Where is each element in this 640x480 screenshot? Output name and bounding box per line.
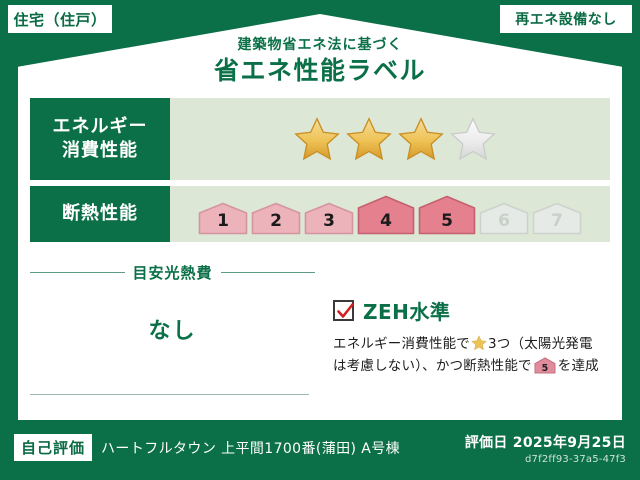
insulation-level-6: 6 (479, 193, 529, 235)
insulation-level-7: 7 (532, 193, 582, 235)
evaluation-code: d7f2ff93-37a5-47f3 (465, 454, 626, 465)
utility-cost-divider (30, 394, 309, 395)
energy-performance-row: エネルギー 消費性能 (30, 98, 610, 180)
energy-label-line1: エネルギー (53, 115, 148, 139)
star-filled-icon (294, 116, 340, 162)
utility-cost-heading: 目安光熱費 (30, 262, 315, 283)
zeh-column: ZEH水準 エネルギー消費性能で 3つ（太陽光発電 は考慮しない）、かつ断熱性能… (315, 258, 610, 408)
star-icon (471, 335, 487, 351)
insulation-level-scale: 1234567 (198, 193, 582, 235)
zeh-heading: ZEH水準 (333, 296, 610, 325)
footer-left: 自己評価 ハートフルタウン 上平間1700番(蒲田) A号棟 (14, 434, 400, 461)
energy-performance-label-box: エネルギー 消費性能 (30, 98, 170, 180)
insulation-level-3: 3 (304, 193, 354, 235)
star-rating (294, 116, 496, 162)
energy-label-line2: 消費性能 (62, 139, 138, 163)
energy-performance-label: 住宅（住戸） 再エネ設備なし 建築物省エネ法に基づく 省エネ性能ラベル エネルギ… (0, 0, 640, 480)
star-filled-icon (398, 116, 444, 162)
check-icon (336, 302, 355, 321)
self-evaluation-badge: 自己評価 (14, 434, 92, 461)
utility-cost-value: なし (30, 313, 315, 345)
star-empty-icon (450, 116, 496, 162)
lower-section: 目安光熱費 なし ZEH水準 エネルギー消費性能で 3つ（太陽光発電 は考慮しな… (30, 258, 610, 408)
insulation-level-number: 3 (304, 211, 354, 231)
utility-cost-column: 目安光熱費 なし (30, 258, 315, 408)
insulation-level-2: 2 (251, 193, 301, 235)
energy-stars-area (170, 98, 610, 180)
building-name: ハートフルタウン 上平間1700番(蒲田) A号棟 (101, 438, 400, 458)
zeh-description: エネルギー消費性能で 3つ（太陽光発電 は考慮しない）、かつ断熱性能で 5 を達… (333, 334, 610, 381)
zeh-desc-part1: エネルギー消費性能で (333, 336, 470, 352)
insulation-label: 断熱性能 (62, 202, 138, 226)
zeh-desc-part3: を達成 (558, 358, 599, 374)
insulation-level-4: 4 (357, 193, 415, 235)
insulation-performance-row: 断熱性能 1234567 (30, 186, 610, 242)
insulation-performance-label-box: 断熱性能 (30, 186, 170, 242)
zeh-desc-part2: は考慮しない）、かつ断熱性能で (333, 358, 532, 374)
insulation-level-number: 4 (357, 211, 415, 231)
insulation-level-number: 7 (532, 211, 582, 231)
footer-right: 評価日 2025年9月25日 d7f2ff93-37a5-47f3 (465, 432, 626, 465)
rule-right (221, 272, 316, 273)
svg-text:5: 5 (541, 363, 548, 374)
badge-building-type: 住宅（住戸） (8, 5, 112, 33)
evaluation-date: 評価日 2025年9月25日 (465, 432, 626, 452)
star-filled-icon (346, 116, 392, 162)
insulation-level-number: 1 (198, 211, 248, 231)
insulation-level-number: 2 (251, 211, 301, 231)
rule-left (30, 272, 125, 273)
insulation-level-1: 1 (198, 193, 248, 235)
label-footer: 自己評価 ハートフルタウン 上平間1700番(蒲田) A号棟 評価日 2025年… (0, 420, 640, 480)
utility-cost-title: 目安光熱費 (133, 262, 213, 283)
zeh-checkbox[interactable] (333, 300, 354, 321)
insulation-levels-area: 1234567 (170, 186, 610, 242)
zeh-desc-star-count: 3つ（太陽光発電 (488, 336, 593, 352)
insulation-chip-icon: 5 (534, 357, 556, 382)
badge-renewable-equipment: 再エネ設備なし (500, 5, 632, 33)
insulation-level-5: 5 (418, 193, 476, 235)
insulation-level-number: 6 (479, 211, 529, 231)
insulation-level-number: 5 (418, 211, 476, 231)
zeh-title: ZEH水準 (363, 296, 450, 325)
